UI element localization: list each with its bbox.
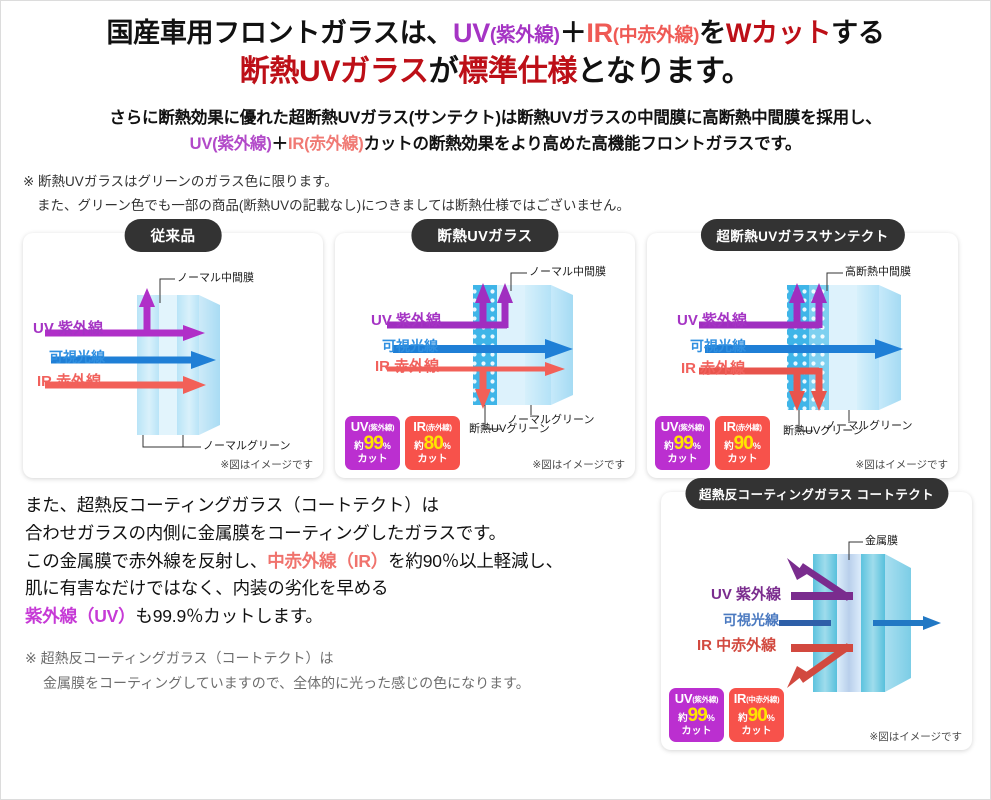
panel1-label-ir: IR 赤外線	[37, 374, 101, 389]
panel2-badge-ir-paren: (赤外線)	[426, 423, 452, 432]
panel2-badge-uv-value: 約99%	[347, 434, 398, 453]
panel2-badge-ir-value: 約80%	[407, 434, 458, 453]
panel3-label-uv: UV 紫外線	[677, 313, 747, 328]
panel2-badge-uv-kind: UV(紫外線)	[347, 420, 398, 433]
panel4-badge-ir-percent: %	[767, 713, 775, 723]
panel3-badge-ir-kind: IR(赤外線)	[717, 420, 768, 433]
coattect-line-1: また、超熱反コーティングガラス（コートテクト）は	[25, 492, 645, 520]
headline-product-name: 断熱UVガラス	[240, 55, 429, 88]
headline-particle-wo: を	[699, 18, 726, 48]
lead-line-1: さらに断熱効果に優れた超断熱UVガラス(サンテクト)は断熱UVガラスの中間膜に高…	[15, 105, 976, 132]
panel2-badge-uv-kind-text: UV	[351, 419, 368, 434]
panel1-label-uv: UV 紫外線	[33, 321, 103, 336]
panel4-badge-ir: IR(中赤外線) 約90% カット	[729, 688, 784, 742]
panel1-image-note: ※図はイメージです	[220, 457, 313, 472]
panel2-badge-ir-cut: カット	[407, 455, 458, 465]
coattect-line-5-b: も99.9％カットします。	[135, 606, 322, 626]
headline-ir-paren: (中赤外線)	[613, 25, 699, 46]
panel2-badge-ir-approx: 約	[414, 441, 424, 452]
panel2-badge-uv-approx: 約	[354, 441, 364, 452]
coattect-line-3-b: を約90％以上軽減し、	[388, 551, 563, 571]
panel2-badge-ir-percent: %	[443, 441, 451, 451]
comparison-panels: 従来品	[1, 217, 990, 478]
panel3-badge-ir-percent: %	[753, 441, 761, 451]
panel3-badge-uv-cut: カット	[657, 455, 708, 465]
panel4-badge-uv-number: 99	[688, 705, 707, 726]
panel4-badge-uv: UV(紫外線) 約99% カット	[669, 688, 724, 742]
panel3-badge-uv-value: 約99%	[657, 434, 708, 453]
panel-suntect-diagram: UV 紫外線 可視光線 IR 赤外線 高断熱中間膜 ノーマルグリーン 断熱UVグ…	[647, 233, 958, 478]
lead-ir-label: IR(赤外線)	[288, 135, 364, 153]
panel3-badge-ir: IR(赤外線) 約90% カット	[715, 416, 770, 470]
panel2-badge-ir-number: 80	[424, 433, 443, 454]
infographic-page: 国産車用フロントガラスは、UV(紫外線)＋IR(中赤外線)をWカットする 断熱U…	[0, 0, 991, 800]
headline-wcut: Wカット	[726, 18, 831, 48]
panel4-callout-metal-film: 金属膜	[865, 536, 898, 547]
panel4-badges: UV(紫外線) 約99% カット IR(中赤外線) 約90% カット	[669, 688, 784, 742]
panel4-badge-ir-cut: カット	[731, 727, 782, 737]
panel3-badge-uv-kind: UV(紫外線)	[657, 420, 708, 433]
panel4-badge-ir-kind-text: IR	[734, 691, 746, 706]
panel-suntect: 超断熱UVガラスサンテクト	[647, 233, 958, 478]
panel4-badge-uv-approx: 約	[678, 713, 688, 724]
coattect-description: また、超熱反コーティングガラス（コートテクト）は 合わせガラスの内側に金属膜をコ…	[25, 492, 645, 750]
coattect-line-4: 肌に有害なだけではなく、内装の劣化を早める	[25, 575, 645, 603]
coattect-line-5: 紫外線（UV）も99.9％カットします。	[25, 603, 645, 631]
lead-line-2: UV(紫外線)＋IR(赤外線)カットの断熱効果をより高めた高機能フロントガラスで…	[15, 131, 976, 158]
panel2-label-ir: IR 赤外線	[375, 359, 439, 374]
panel3-image-note: ※図はイメージです	[855, 457, 948, 472]
panel4-label-ir: IR 中赤外線	[697, 638, 776, 653]
panel-conventional: 従来品	[23, 233, 323, 478]
lead-plus: ＋	[272, 135, 288, 153]
headline-standard-spec: 標準仕様	[458, 55, 577, 88]
panel3-badge-uv-paren: (紫外線)	[678, 423, 704, 432]
headline-line-1: 国産車用フロントガラスは、UV(紫外線)＋IR(中赤外線)をWカットする	[11, 17, 980, 50]
panel4-badge-ir-kind: IR(中赤外線)	[731, 692, 782, 705]
lead-paragraph: さらに断熱効果に優れた超断熱UVガラス(サンテクト)は断熱UVガラスの中間膜に高…	[1, 95, 990, 160]
coattect-line-3-a: この金属膜で赤外線を反射し、	[25, 551, 267, 571]
panel-conventional-diagram: UV 紫外線 可視光線 IR 赤外線 ノーマル中間膜 ノーマルグリーン ※図はイ…	[23, 233, 323, 478]
panel2-badge-ir: IR(赤外線) 約80% カット	[405, 416, 460, 470]
lead-rest: カットの断熱効果をより高めた高機能フロントガラスです。	[364, 135, 802, 153]
headline-plus: ＋	[560, 18, 587, 48]
top-note: ※ 断熱UVガラスはグリーンのガラス色に限ります。 また、グリーン色でも一部の商…	[1, 160, 990, 217]
panel3-label-visible: 可視光線	[690, 339, 746, 353]
coattect-uv-label: 紫外線（UV）	[25, 606, 135, 626]
headline-text-prefix: 国産車用フロントガラスは、	[106, 18, 453, 48]
panel1-label-visible: 可視光線	[49, 350, 105, 364]
panel2-label-uv: UV 紫外線	[371, 313, 441, 328]
panel4-badge-ir-value: 約90%	[731, 706, 782, 725]
panel4-badge-uv-kind-text: UV	[675, 691, 692, 706]
panel3-badge-ir-number: 90	[734, 433, 753, 454]
panel3-badges: UV(紫外線) 約99% カット IR(赤外線) 約90% カット	[655, 416, 770, 470]
panel3-badge-uv-percent: %	[693, 441, 701, 451]
panel3-badge-ir-kind-text: IR	[723, 419, 735, 434]
panel1-callout-green: ノーマルグリーン	[203, 441, 290, 452]
panel4-badge-uv-cut: カット	[671, 727, 722, 737]
panel3-badge-ir-paren: (赤外線)	[736, 423, 762, 432]
panel4-label-visible: 可視光線	[723, 613, 779, 627]
panel3-badge-ir-cut: カット	[717, 455, 768, 465]
panel2-callout-interlayer: ノーマル中間膜	[529, 267, 606, 278]
panel4-image-note: ※図はイメージです	[869, 729, 962, 744]
panel2-badge-ir-kind-text: IR	[413, 419, 425, 434]
lead-uv-label: UV(紫外線)	[190, 135, 272, 153]
headline-suffix-suru: する	[831, 18, 884, 48]
bottom-note: ※ 超熱反コーティングガラス（コートテクト）は 金属膜をコーティングしていますの…	[25, 646, 645, 694]
panel3-badge-uv-number: 99	[674, 433, 693, 454]
panel4-label-uv: UV 紫外線	[711, 587, 781, 602]
coattect-mid-ir-label: 中赤外線（IR）	[267, 551, 388, 571]
panel-coattect: 超熱反コーティングガラス コートテクト	[661, 492, 972, 750]
coattect-line-3: この金属膜で赤外線を反射し、中赤外線（IR）を約90％以上軽減し、	[25, 548, 645, 576]
panel-uv-insulated-diagram: UV 紫外線 可視光線 IR 赤外線 ノーマル中間膜 ノーマルグリーン 断熱UV…	[335, 233, 635, 478]
panel4-badge-ir-approx: 約	[738, 713, 748, 724]
headline-ir-label: IR	[586, 18, 612, 48]
panel2-label-visible: 可視光線	[382, 339, 438, 353]
bottom-section: また、超熱反コーティングガラス（コートテクト）は 合わせガラスの内側に金属膜をコ…	[1, 478, 990, 750]
panel-uv-insulated: 断熱UVガラス	[335, 233, 635, 478]
panel2-image-note: ※図はイメージです	[532, 457, 625, 472]
panel2-badge-uv: UV(紫外線) 約99% カット	[345, 416, 400, 470]
top-note-line-2: また、グリーン色でも一部の商品(断熱UVの記載なし)につきましては断熱仕様ではご…	[23, 194, 990, 218]
panel4-badge-uv-value: 約99%	[671, 706, 722, 725]
panel4-badge-uv-kind: UV(紫外線)	[671, 692, 722, 705]
bottom-note-line-2: 金属膜をコーティングしていますので、全体的に光った感じの色になります。	[25, 671, 645, 695]
panel3-badge-ir-value: 約90%	[717, 434, 768, 453]
panel3-badge-uv-kind-text: UV	[661, 419, 678, 434]
headline-particle-ga: が	[429, 55, 459, 88]
headline-line-2: 断熱UVガラスが標準仕様となります。	[11, 54, 980, 91]
top-note-line-1: ※ 断熱UVガラスはグリーンのガラス色に限ります。	[23, 174, 338, 189]
headline-uv-paren: (紫外線)	[490, 24, 560, 46]
panel2-badge-ir-kind: IR(赤外線)	[407, 420, 458, 433]
main-headline: 国産車用フロントガラスは、UV(紫外線)＋IR(中赤外線)をWカットする 断熱U…	[1, 1, 990, 95]
panel2-callout-uv-green: 断熱UVグリーン	[469, 424, 550, 435]
headline-suffix-narimasu: となります。	[577, 55, 751, 88]
panel2-badge-uv-number: 99	[364, 433, 383, 454]
panel-coattect-diagram: UV 紫外線 可視光線 IR 中赤外線 金属膜 UV(紫外線) 約99% カット…	[661, 492, 972, 750]
bottom-note-line-1: ※ 超熱反コーティングガラス（コートテクト）は	[25, 650, 334, 666]
panel2-badge-uv-cut: カット	[347, 455, 398, 465]
panel4-badge-ir-number: 90	[748, 705, 767, 726]
panel2-badge-uv-percent: %	[383, 441, 391, 451]
panel2-badges: UV(紫外線) 約99% カット IR(赤外線) 約80% カット	[345, 416, 460, 470]
panel4-badge-ir-paren: (中赤外線)	[746, 695, 779, 704]
panel3-badge-uv-approx: 約	[664, 441, 674, 452]
headline-uv-label: UV	[453, 18, 490, 48]
panel3-callout-uv-green: 断熱UVグリーン	[783, 426, 864, 437]
panel4-badge-uv-percent: %	[707, 713, 715, 723]
panel1-callout-interlayer: ノーマル中間膜	[177, 273, 254, 284]
panel3-badge-ir-approx: 約	[724, 441, 734, 452]
panel4-badge-uv-paren: (紫外線)	[692, 695, 718, 704]
coattect-line-2: 合わせガラスの内側に金属膜をコーティングしたガラスです。	[25, 520, 645, 548]
panel2-badge-uv-paren: (紫外線)	[368, 423, 394, 432]
panel3-callout-interlayer: 高断熱中間膜	[845, 267, 911, 278]
panel3-badge-uv: UV(紫外線) 約99% カット	[655, 416, 710, 470]
panel3-label-ir: IR 赤外線	[681, 361, 745, 376]
